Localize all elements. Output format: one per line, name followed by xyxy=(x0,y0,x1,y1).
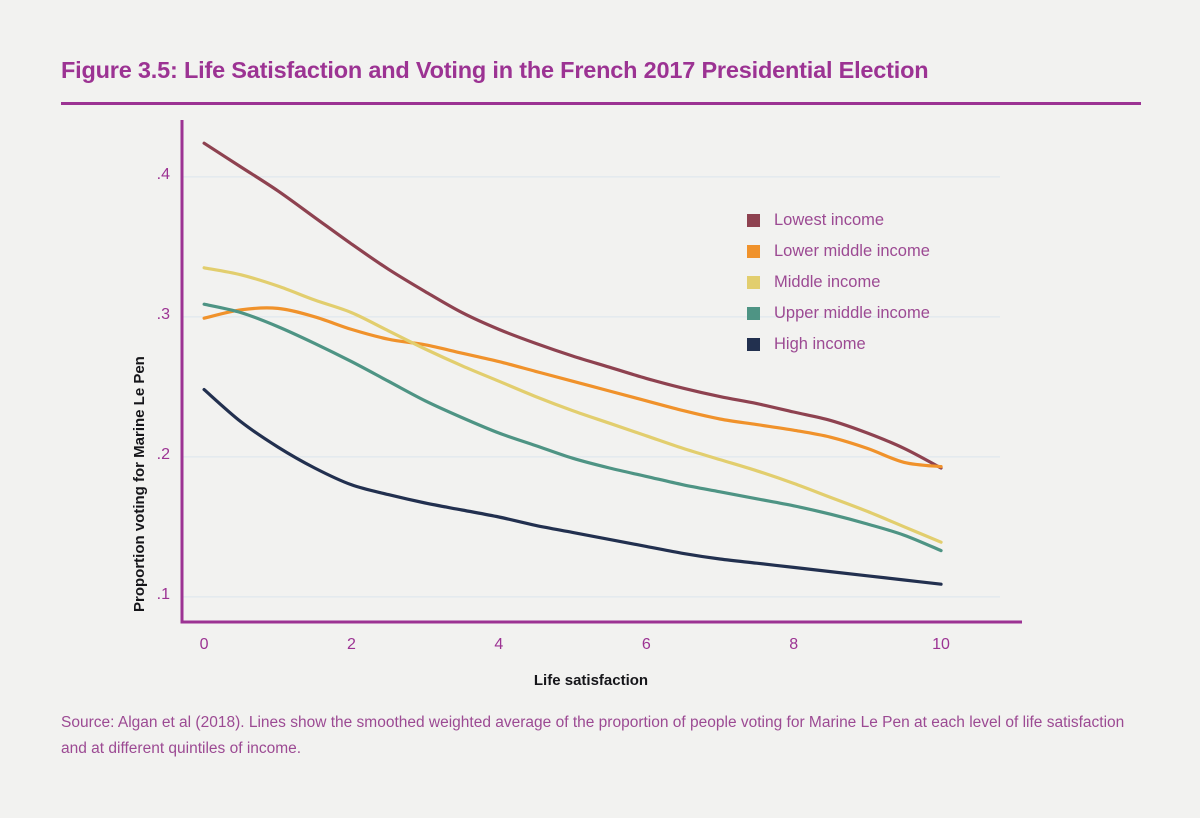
legend-swatch-icon xyxy=(747,338,760,351)
y-tick-label: .1 xyxy=(126,586,170,604)
page-title: Figure 3.5: Life Satisfaction and Voting… xyxy=(61,57,1141,84)
legend-item-1[interactable]: Lower middle income xyxy=(747,236,1047,267)
legend-swatch-icon xyxy=(747,307,760,320)
y-axis-title: Proportion voting for Marine Le Pen xyxy=(131,356,148,612)
y-tick-label: .3 xyxy=(126,306,170,324)
y-tick-label: .2 xyxy=(126,446,170,464)
legend-swatch-icon xyxy=(747,245,760,258)
figure-page: Figure 3.5: Life Satisfaction and Voting… xyxy=(0,0,1200,818)
chart-legend: Lowest incomeLower middle incomeMiddle i… xyxy=(747,205,1047,360)
legend-item-3[interactable]: Upper middle income xyxy=(747,298,1047,329)
x-tick-label: 2 xyxy=(321,636,381,654)
x-tick-label: 4 xyxy=(469,636,529,654)
x-axis-title: Life satisfaction xyxy=(152,672,1030,689)
x-tick-label: 6 xyxy=(616,636,676,654)
legend-item-label: Middle income xyxy=(774,273,880,292)
legend-item-4[interactable]: High income xyxy=(747,329,1047,360)
x-tick-label: 10 xyxy=(911,636,971,654)
legend-item-label: Lowest income xyxy=(774,211,884,230)
chart-container: Proportion voting for Marine Le Pen Life… xyxy=(0,110,1200,690)
y-tick-label: .4 xyxy=(126,166,170,184)
line-chart xyxy=(0,110,1200,690)
legend-item-label: Upper middle income xyxy=(774,304,930,323)
legend-item-label: Lower middle income xyxy=(774,242,930,261)
title-divider xyxy=(61,102,1141,105)
legend-item-label: High income xyxy=(774,335,866,354)
source-note: Source: Algan et al (2018). Lines show t… xyxy=(61,710,1139,762)
legend-item-0[interactable]: Lowest income xyxy=(747,205,1047,236)
legend-item-2[interactable]: Middle income xyxy=(747,267,1047,298)
x-tick-label: 0 xyxy=(174,636,234,654)
legend-swatch-icon xyxy=(747,214,760,227)
legend-swatch-icon xyxy=(747,276,760,289)
x-tick-label: 8 xyxy=(764,636,824,654)
